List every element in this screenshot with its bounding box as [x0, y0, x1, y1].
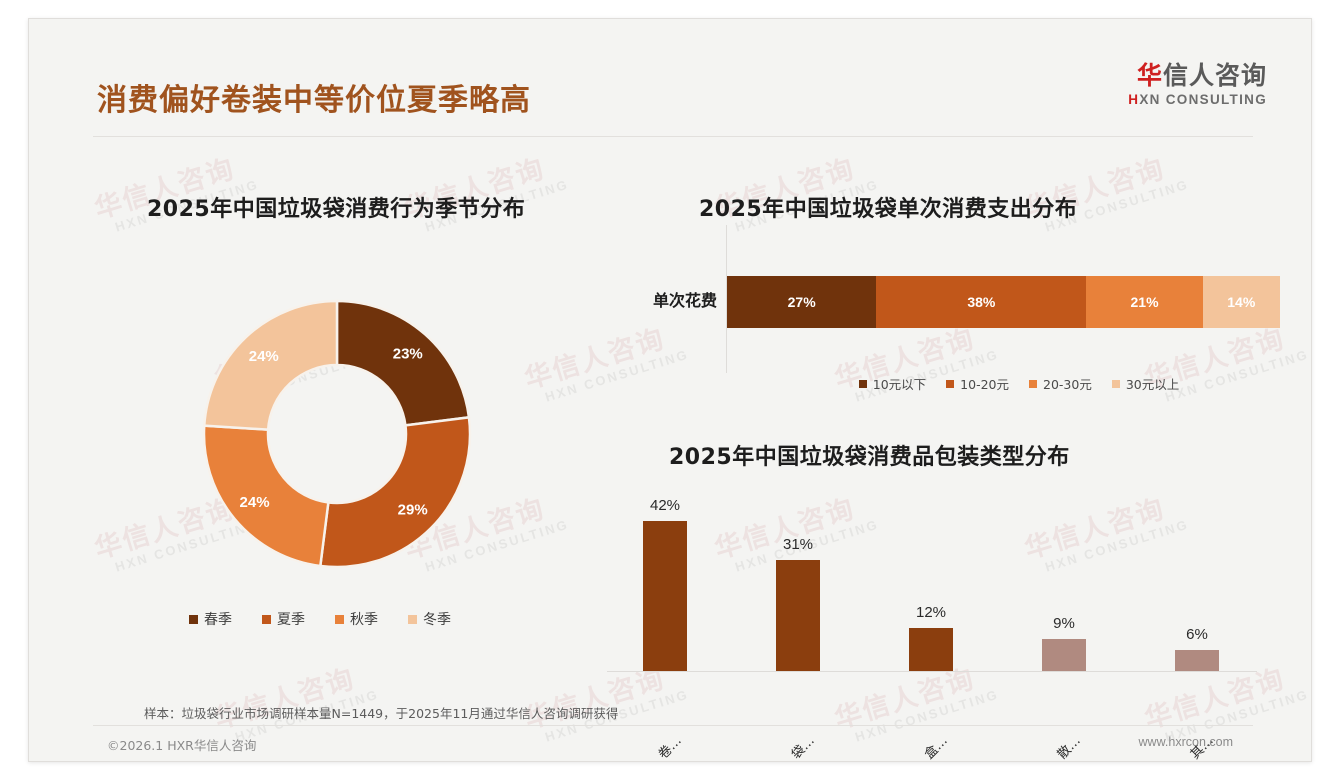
- footer-divider: [93, 725, 1253, 726]
- column-bar-group[interactable]: 9%: [1042, 639, 1086, 671]
- donut-slice[interactable]: [204, 301, 337, 430]
- donut-svg: 23%29%24%24%: [167, 269, 507, 599]
- page-title: 消费偏好卷装中等价位夏季略高: [97, 75, 531, 119]
- column-value-label: 42%: [650, 497, 680, 514]
- column-bar[interactable]: [909, 628, 953, 671]
- stacked-legend-item[interactable]: 10元以下: [859, 374, 926, 393]
- legend-swatch: [189, 615, 198, 624]
- column-bar[interactable]: [1042, 639, 1086, 671]
- legend-label: 春季: [204, 609, 232, 629]
- column-value-label: 6%: [1186, 626, 1208, 643]
- stacked-bar-track: 27%38%21%14%: [727, 276, 1280, 328]
- chart-title-package: 2025年中国垃圾袋消费品包装类型分布: [669, 439, 1070, 471]
- stacked-legend-item[interactable]: 30元以上: [1112, 374, 1179, 393]
- stacked-segment-label: 38%: [967, 294, 995, 310]
- chart-spend-stacked: 2025年中国垃圾袋单次消费支出分布 单次花费 27%38%21%14% 10元…: [629, 169, 1289, 419]
- donut-legend-item[interactable]: 春季: [189, 609, 232, 629]
- chart-season-donut: 2025年中国垃圾袋消费行为季节分布 23%29%24%24% 春季夏季秋季冬季: [89, 169, 609, 649]
- column-bar-group[interactable]: 42%: [643, 521, 687, 672]
- column-bar[interactable]: [1175, 650, 1219, 672]
- donut-slice[interactable]: [337, 301, 469, 425]
- footer-copyright: ©2026.1 HXR华信人咨询: [107, 735, 256, 754]
- slide-canvas: 华信人咨询HXN CONSULTING华信人咨询HXN CONSULTING华信…: [28, 18, 1312, 762]
- stacked-segment[interactable]: 21%: [1086, 276, 1202, 328]
- sample-footnote: 样本：垃圾袋行业市场调研样本量N=1449，于2025年11月通过华信人咨询调研…: [144, 703, 618, 722]
- legend-label: 夏季: [277, 609, 305, 629]
- donut-legend: 春季夏季秋季冬季: [189, 609, 451, 629]
- column-value-label: 9%: [1053, 615, 1075, 632]
- legend-swatch: [408, 615, 417, 624]
- donut-slice-label: 24%: [240, 494, 270, 511]
- stacked-legend-item[interactable]: 10-20元: [946, 374, 1009, 393]
- column-category-label: 散…: [1052, 731, 1084, 762]
- column-baseline: [607, 671, 1257, 672]
- legend-label: 10元以下: [873, 374, 926, 393]
- column-bar[interactable]: [643, 521, 687, 672]
- legend-label: 10-20元: [960, 374, 1009, 393]
- donut-slice[interactable]: [320, 417, 470, 567]
- legend-label: 30元以上: [1126, 374, 1179, 393]
- donut-slice-label: 29%: [398, 502, 428, 519]
- legend-label: 20-30元: [1043, 374, 1092, 393]
- logo-english: HXN CONSULTING: [1128, 92, 1267, 107]
- legend-swatch: [1029, 380, 1037, 388]
- column-bar-group[interactable]: 12%: [909, 628, 953, 671]
- stacked-segment-label: 27%: [788, 294, 816, 310]
- stacked-category-label: 单次花费: [629, 287, 717, 311]
- stacked-segment[interactable]: 14%: [1203, 276, 1280, 328]
- stacked-segment[interactable]: 38%: [876, 276, 1086, 328]
- donut-legend-item[interactable]: 秋季: [335, 609, 378, 629]
- stacked-segment[interactable]: 27%: [727, 276, 876, 328]
- donut-legend-item[interactable]: 夏季: [262, 609, 305, 629]
- column-category-label: 盒…: [919, 731, 951, 762]
- stacked-legend-item[interactable]: 20-30元: [1029, 374, 1092, 393]
- column-category-label: 卷…: [653, 731, 685, 762]
- brand-logo: 华信人咨询 HXN CONSULTING: [1128, 63, 1267, 107]
- column-bar[interactable]: [776, 560, 820, 671]
- stacked-segment-label: 14%: [1227, 294, 1255, 310]
- donut-legend-item[interactable]: 冬季: [408, 609, 451, 629]
- footer-website: www.hxrcon.com: [1139, 735, 1233, 749]
- logo-en-rest: XN CONSULTING: [1139, 92, 1267, 107]
- column-category-label: 袋…: [786, 731, 818, 762]
- header-divider: [93, 136, 1253, 137]
- column-value-label: 12%: [916, 604, 946, 621]
- stacked-legend: 10元以下10-20元20-30元30元以上: [759, 374, 1279, 393]
- legend-swatch: [1112, 380, 1120, 388]
- logo-chinese: 华信人咨询: [1128, 63, 1267, 89]
- legend-swatch: [946, 380, 954, 388]
- donut-slice-label: 24%: [249, 348, 279, 365]
- logo-cn-rest: 信人咨询: [1163, 61, 1267, 90]
- column-value-label: 31%: [783, 536, 813, 553]
- chart-title-season: 2025年中国垃圾袋消费行为季节分布: [147, 191, 525, 223]
- column-plot-area: 42%卷…31%袋…12%盒…9%散…6%其…: [607, 499, 1267, 671]
- logo-cn-accent: 华: [1137, 61, 1163, 90]
- stacked-segment-label: 21%: [1131, 294, 1159, 310]
- legend-swatch: [262, 615, 271, 624]
- legend-label: 秋季: [350, 609, 378, 629]
- chart-package-column: 2025年中国垃圾袋消费品包装类型分布 42%卷…31%袋…12%盒…9%散…6…: [589, 429, 1289, 719]
- logo-en-accent: H: [1128, 92, 1139, 107]
- column-bar-group[interactable]: 31%: [776, 560, 820, 671]
- legend-swatch: [335, 615, 344, 624]
- column-bar-group[interactable]: 6%: [1175, 650, 1219, 672]
- slide-header: 消费偏好卷装中等价位夏季略高 华信人咨询 HXN CONSULTING: [29, 19, 1311, 119]
- legend-swatch: [859, 380, 867, 388]
- donut-slice-label: 23%: [393, 346, 423, 363]
- legend-label: 冬季: [423, 609, 451, 629]
- chart-title-spend: 2025年中国垃圾袋单次消费支出分布: [699, 191, 1077, 223]
